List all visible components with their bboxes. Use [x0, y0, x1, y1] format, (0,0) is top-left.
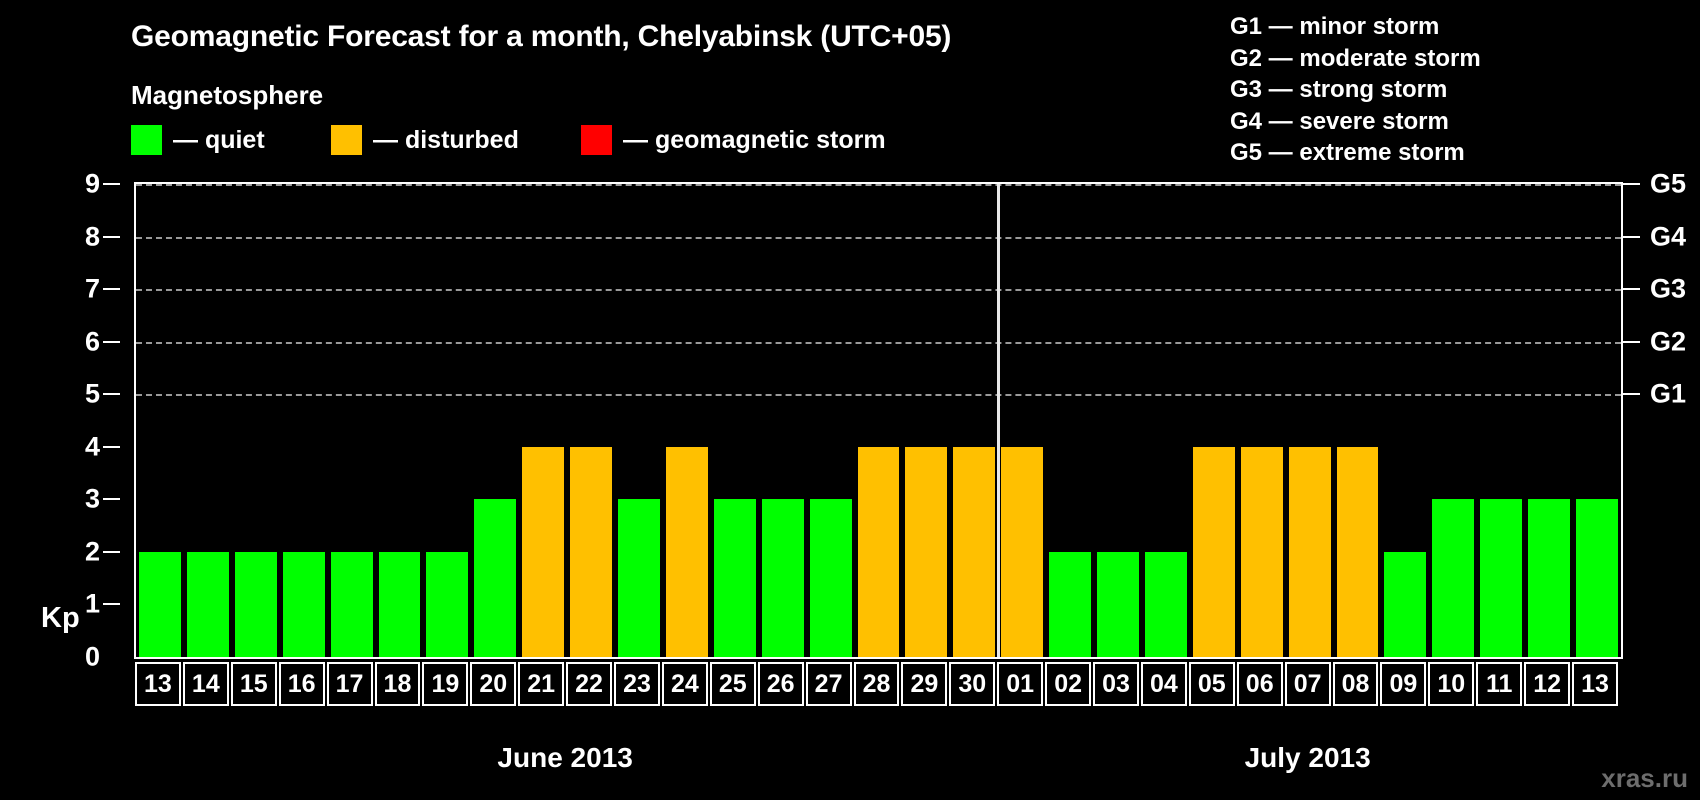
- y-axis-tick-mark: [103, 393, 120, 395]
- bar: [1337, 447, 1379, 657]
- y-axis-tick-mark: [103, 498, 120, 500]
- date-cell: 24: [662, 662, 708, 706]
- orange-square-icon: [331, 125, 362, 155]
- date-cell: 22: [566, 662, 612, 706]
- bar: [1384, 552, 1426, 657]
- bar: [1001, 447, 1043, 657]
- date-cell: 30: [949, 662, 995, 706]
- bar: [1289, 447, 1331, 657]
- gscale-tick-label: G1: [1650, 379, 1686, 410]
- gscale-tick-mark: [1623, 236, 1640, 238]
- bar: [905, 447, 947, 657]
- date-cell: 04: [1141, 662, 1187, 706]
- date-cell: 21: [518, 662, 564, 706]
- bar: [522, 447, 564, 657]
- gscale-tick-mark: [1623, 341, 1640, 343]
- y-axis-tick-label: 9: [85, 169, 100, 200]
- y-axis-gscale: G1G2G3G4G5: [1623, 182, 1700, 659]
- date-cell: 02: [1045, 662, 1091, 706]
- y-axis-tick-label: 8: [85, 221, 100, 252]
- y-axis-tick-mark: [103, 288, 120, 290]
- gscale-row: G2 — moderate storm: [1230, 43, 1481, 75]
- date-cell: 03: [1093, 662, 1139, 706]
- bar: [666, 447, 708, 657]
- gscale-row: G1 — minor storm: [1230, 11, 1481, 43]
- magnetosphere-label: Magnetosphere: [131, 80, 323, 111]
- month-divider: [997, 184, 1000, 657]
- date-cell: 27: [806, 662, 852, 706]
- bar: [810, 499, 852, 657]
- bar: [426, 552, 468, 657]
- date-cell: 01: [997, 662, 1043, 706]
- y-axis-tick-label: 6: [85, 326, 100, 357]
- gscale-key: G1 — minor stormG2 — moderate stormG3 — …: [1230, 11, 1481, 169]
- gscale-row: G3 — strong storm: [1230, 74, 1481, 106]
- date-axis: 1314151617181920212223242526272829300102…: [134, 662, 1619, 706]
- date-cell: 19: [422, 662, 468, 706]
- month-caption: June 2013: [497, 742, 632, 774]
- gscale-tick-label: G5: [1650, 169, 1686, 200]
- y-axis-tick-mark: [103, 183, 120, 185]
- bar: [714, 499, 756, 657]
- date-cell: 29: [901, 662, 947, 706]
- gscale-tick-label: G4: [1650, 221, 1686, 252]
- bar: [474, 499, 516, 657]
- bar: [1576, 499, 1618, 657]
- legend-item: — quiet: [131, 124, 265, 156]
- legend-item: — disturbed: [331, 124, 519, 156]
- bar: [283, 552, 325, 657]
- date-cell: 09: [1380, 662, 1426, 706]
- y-axis-tick-label: 1: [85, 589, 100, 620]
- date-cell: 10: [1428, 662, 1474, 706]
- gscale-tick-mark: [1623, 393, 1640, 395]
- bar: [1145, 552, 1187, 657]
- bar: [1480, 499, 1522, 657]
- gscale-tick-label: G2: [1650, 326, 1686, 357]
- plot-area: [134, 182, 1623, 659]
- page-title: Geomagnetic Forecast for a month, Chelya…: [131, 20, 951, 54]
- y-axis-tick-mark: [103, 446, 120, 448]
- y-axis-tick-label: 3: [85, 484, 100, 515]
- legend-label: — geomagnetic storm: [623, 126, 886, 155]
- bar: [1097, 552, 1139, 657]
- gscale-row: G4 — severe storm: [1230, 106, 1481, 138]
- y-axis-kp: Kp 0123456789: [0, 182, 134, 659]
- bar: [139, 552, 181, 657]
- date-cell: 08: [1333, 662, 1379, 706]
- bar: [1528, 499, 1570, 657]
- bar: [187, 552, 229, 657]
- bar: [1241, 447, 1283, 657]
- date-cell: 07: [1285, 662, 1331, 706]
- y-axis-tick-label: 0: [85, 642, 100, 673]
- y-axis-tick-mark: [103, 236, 120, 238]
- bar: [1193, 447, 1235, 657]
- legend-item: — geomagnetic storm: [581, 124, 886, 156]
- date-cell: 15: [231, 662, 277, 706]
- date-cell: 25: [710, 662, 756, 706]
- red-square-icon: [581, 125, 612, 155]
- y-axis-tick-mark: [103, 603, 120, 605]
- y-axis-tick-label: 5: [85, 379, 100, 410]
- bar: [570, 447, 612, 657]
- watermark: xras.ru: [1601, 763, 1688, 794]
- date-cell: 16: [279, 662, 325, 706]
- month-caption: July 2013: [1245, 742, 1371, 774]
- date-cell: 12: [1524, 662, 1570, 706]
- y-axis-tick-label: 4: [85, 431, 100, 462]
- bar: [331, 552, 373, 657]
- bar: [1049, 552, 1091, 657]
- gscale-row: G5 — extreme storm: [1230, 137, 1481, 169]
- bar-series: [136, 184, 1621, 657]
- date-cell: 17: [327, 662, 373, 706]
- legend-label: — quiet: [173, 126, 265, 155]
- bar: [858, 447, 900, 657]
- bar: [235, 552, 277, 657]
- date-cell: 13: [1572, 662, 1618, 706]
- y-axis-tick-mark: [103, 551, 120, 553]
- date-cell: 23: [614, 662, 660, 706]
- date-cell: 06: [1237, 662, 1283, 706]
- bar: [953, 447, 995, 657]
- y-axis-tick-label: 7: [85, 274, 100, 305]
- date-cell: 05: [1189, 662, 1235, 706]
- bar: [1432, 499, 1474, 657]
- green-square-icon: [131, 125, 162, 155]
- date-cell: 18: [375, 662, 421, 706]
- y-axis-tick-label: 2: [85, 536, 100, 567]
- date-cell: 11: [1476, 662, 1522, 706]
- date-cell: 28: [854, 662, 900, 706]
- bar: [762, 499, 804, 657]
- gscale-tick-label: G3: [1650, 274, 1686, 305]
- date-cell: 14: [183, 662, 229, 706]
- legend-label: — disturbed: [373, 126, 519, 155]
- bar: [618, 499, 660, 657]
- date-cell: 26: [758, 662, 804, 706]
- gscale-tick-mark: [1623, 288, 1640, 290]
- y-axis-title: Kp: [41, 602, 80, 635]
- date-cell: 20: [470, 662, 516, 706]
- gscale-tick-mark: [1623, 183, 1640, 185]
- date-cell: 13: [135, 662, 181, 706]
- y-axis-tick-mark: [103, 341, 120, 343]
- bar: [379, 552, 421, 657]
